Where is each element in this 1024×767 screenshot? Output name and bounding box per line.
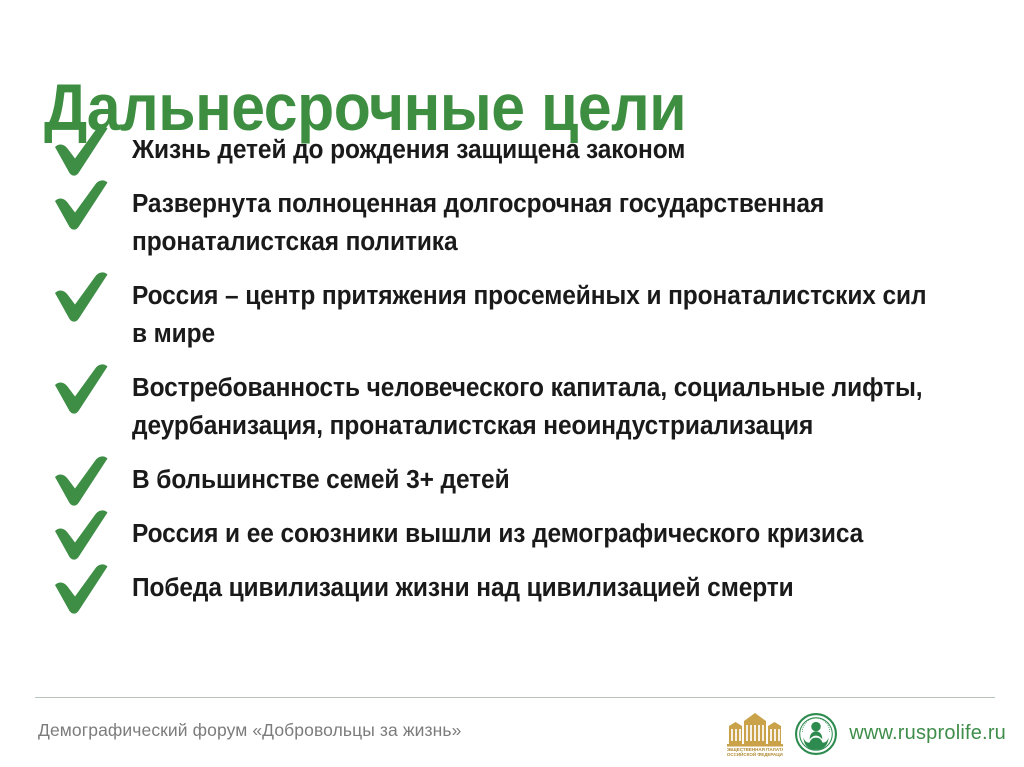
list-item: В большинстве семей 3+ детей: [44, 461, 974, 499]
check-icon: [52, 563, 114, 615]
list-item-label: Россия – центр притяжения просемейных и …: [132, 277, 940, 353]
list-item-label: Развернута полноценная долгосрочная госу…: [132, 185, 940, 261]
footer-caption: Демографический форум «Добровольцы за жи…: [38, 720, 461, 741]
check-icon: [52, 271, 114, 323]
list-item: Жизнь детей до рождения защищена законом: [44, 131, 974, 169]
public-chamber-logo: ОБЩЕСТВЕННАЯ ПАЛАТА РОССИЙСКОЙ ФЕДЕРАЦИИ: [727, 711, 783, 757]
list-item-label: Жизнь детей до рождения защищена законом: [132, 131, 940, 169]
prolife-emblem-logo: [795, 713, 837, 755]
check-icon: [52, 125, 114, 177]
list-item: Победа цивилизации жизни над цивилизацие…: [44, 569, 974, 607]
footer-divider: [35, 697, 995, 698]
list-item: Россия и ее союзники вышли из демографич…: [44, 515, 974, 553]
check-icon: [52, 509, 114, 561]
list-item-label: Востребованность человеческого капитала,…: [132, 369, 940, 445]
list-item: Развернута полноценная долгосрочная госу…: [44, 185, 974, 261]
list-item-label: Победа цивилизации жизни над цивилизацие…: [132, 569, 940, 607]
public-chamber-logo-line1: ОБЩЕСТВЕННАЯ ПАЛАТА: [727, 747, 783, 752]
check-icon: [52, 179, 114, 231]
footer-logos: ОБЩЕСТВЕННАЯ ПАЛАТА РОССИЙСКОЙ ФЕДЕРАЦИИ: [727, 705, 1006, 763]
goals-list: Жизнь детей до рождения защищена законом…: [44, 131, 974, 623]
slide-canvas: Дальнесрочные цели Жизнь детей до рожден…: [0, 0, 1024, 767]
list-item: Россия – центр притяжения просемейных и …: [44, 277, 974, 353]
check-icon: [52, 363, 114, 415]
website-url[interactable]: www.rusprolife.ru: [849, 722, 1006, 747]
footer: Демографический форум «Добровольцы за жи…: [0, 703, 1024, 767]
list-item: Востребованность человеческого капитала,…: [44, 369, 974, 445]
list-item-label: Россия и ее союзники вышли из демографич…: [132, 515, 940, 553]
list-item-label: В большинстве семей 3+ детей: [132, 461, 940, 499]
check-icon: [52, 455, 114, 507]
